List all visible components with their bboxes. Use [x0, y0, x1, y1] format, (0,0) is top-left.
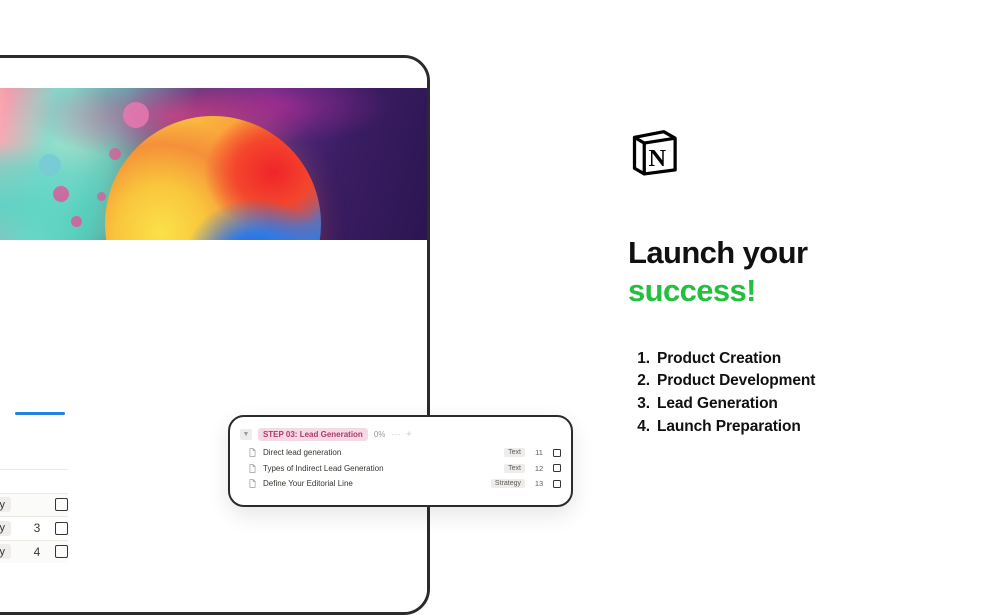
- table-row[interactable]: uct Strategy 3: [0, 516, 68, 540]
- table-row-number: 4: [29, 545, 45, 559]
- card-row-tag: Text: [504, 448, 525, 457]
- list-item: 1. Product Creation: [628, 348, 968, 371]
- cover-image: [0, 88, 427, 240]
- list-item-number: 3.: [628, 393, 650, 416]
- table-row-checkbox[interactable]: [55, 545, 68, 558]
- table-row-title: t: [0, 474, 68, 488]
- page-title: New Product / New: [0, 310, 173, 339]
- card-row-checkbox[interactable]: [553, 480, 561, 488]
- list-item-label: Launch Preparation: [657, 416, 801, 439]
- card-row-number: 12: [531, 464, 547, 473]
- table-row[interactable]: t: [0, 469, 68, 493]
- marketing-panel: N Launch your success! 1. Product Creati…: [628, 126, 968, 439]
- list-item: 3. Lead Generation: [628, 393, 968, 416]
- active-tab-underline[interactable]: [15, 412, 65, 415]
- plus-icon[interactable]: +: [406, 430, 411, 439]
- list-item-number: 4.: [628, 416, 650, 439]
- chevron-down-icon[interactable]: ▼: [240, 429, 252, 440]
- cover-bubble: [53, 186, 69, 202]
- device-screen: New Product / New Filter Sort ··· + t uc…: [0, 58, 427, 612]
- table-row[interactable]: roduct Strategy 4: [0, 540, 68, 564]
- list-item-label: Product Creation: [657, 348, 781, 371]
- list-item: 4. Launch Preparation: [628, 416, 968, 439]
- cover-bubble: [39, 154, 61, 176]
- list-item-number: 1.: [628, 348, 650, 371]
- floating-detail-card: ▼ STEP 03: Lead Generation 0% ··· + Dire…: [228, 415, 573, 507]
- card-row-number: 13: [531, 479, 547, 488]
- page-headline: Launch your success!: [628, 234, 968, 310]
- cover-bubble: [97, 192, 106, 201]
- card-row[interactable]: Types of Indirect Lead Generation Text 1…: [230, 461, 571, 477]
- list-item: 2. Product Development: [628, 370, 968, 393]
- page-icon: [248, 448, 257, 457]
- table-controls: ··· +: [0, 446, 68, 469]
- card-row-tag: Text: [504, 464, 525, 473]
- list-item-label: Product Development: [657, 370, 815, 393]
- list-item-number: 2.: [628, 370, 650, 393]
- card-row-checkbox[interactable]: [553, 464, 561, 472]
- cover-bubble: [109, 148, 121, 160]
- group-progress: 0%: [374, 430, 386, 439]
- card-row-checkbox[interactable]: [553, 449, 561, 457]
- headline-line-2: success!: [628, 272, 968, 310]
- database-table: ··· + t uct Strategy uct Strategy 3 rodu…: [0, 446, 68, 563]
- headline-line-1: Launch your: [628, 235, 807, 270]
- card-row[interactable]: Define Your Editorial Line Strategy 13: [230, 476, 571, 492]
- table-row-tag: Strategy: [0, 521, 11, 536]
- notion-logo-icon: N: [628, 126, 680, 178]
- list-item-label: Lead Generation: [657, 393, 778, 416]
- table-row-checkbox[interactable]: [55, 522, 68, 535]
- cover-bubble: [71, 216, 82, 227]
- ellipsis-icon[interactable]: ···: [391, 430, 400, 439]
- table-row[interactable]: uct Strategy: [0, 493, 68, 517]
- card-row-title: Types of Indirect Lead Generation: [263, 464, 504, 473]
- device-mockup: New Product / New Filter Sort ··· + t uc…: [0, 55, 430, 615]
- card-group-header: ▼ STEP 03: Lead Generation 0% ··· +: [230, 417, 571, 445]
- table-row-tag: Strategy: [0, 544, 11, 559]
- card-row-title: Direct lead generation: [263, 448, 504, 457]
- page-icon: [248, 464, 257, 473]
- page-icon: [248, 479, 257, 488]
- card-row-tag: Strategy: [491, 479, 525, 488]
- card-row[interactable]: Direct lead generation Text 11: [230, 445, 571, 461]
- cover-bubble: [123, 102, 149, 128]
- feature-list: 1. Product Creation 2. Product Developme…: [628, 348, 968, 439]
- svg-text:N: N: [648, 145, 666, 172]
- table-row-checkbox[interactable]: [55, 498, 68, 511]
- group-badge: STEP 03: Lead Generation: [258, 428, 368, 441]
- card-row-title: Define Your Editorial Line: [263, 479, 491, 488]
- table-row-number: 3: [29, 521, 45, 535]
- card-row-number: 11: [531, 448, 547, 457]
- table-row-tag: Strategy: [0, 497, 11, 512]
